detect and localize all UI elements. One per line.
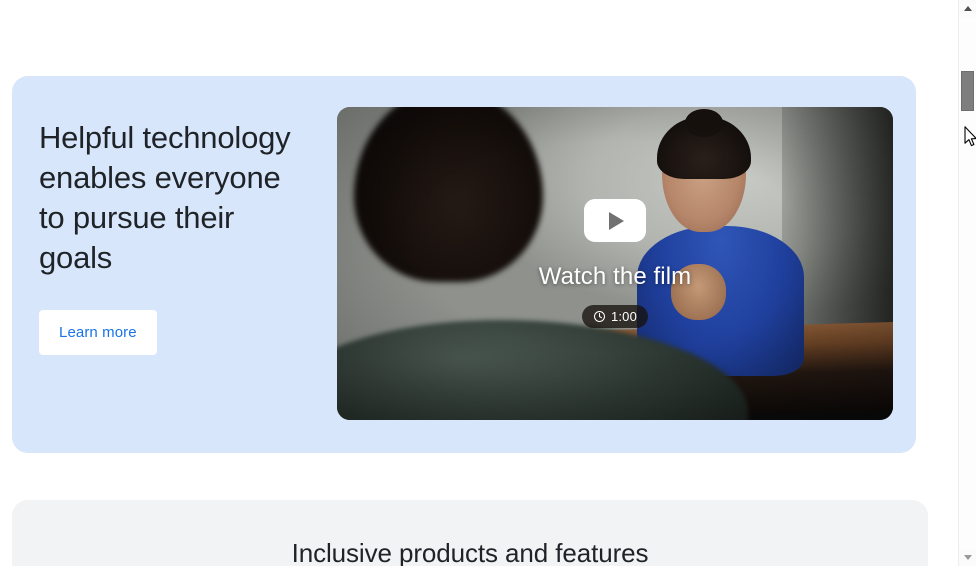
vertical-scrollbar[interactable] xyxy=(958,0,976,566)
scroll-down-arrow-icon[interactable] xyxy=(959,549,976,566)
clock-icon xyxy=(593,310,606,323)
play-triangle-icon xyxy=(609,212,624,230)
video-overlay: Watch the film 1:00 xyxy=(337,107,893,420)
scroll-up-arrow-icon[interactable] xyxy=(959,0,976,17)
scroll-up-arrow-glyph xyxy=(964,6,972,11)
video-duration-text: 1:00 xyxy=(611,309,637,324)
scrollbar-thumb[interactable] xyxy=(961,71,974,111)
play-icon[interactable] xyxy=(584,199,646,242)
page-content: Helpful technology enables everyone to p… xyxy=(0,0,958,566)
learn-more-button[interactable]: Learn more xyxy=(39,310,157,355)
section-heading: Inclusive products and features xyxy=(12,537,928,566)
hero-text-block: Helpful technology enables everyone to p… xyxy=(39,118,314,355)
page-title: Helpful technology enables everyone to p… xyxy=(39,118,314,278)
scroll-down-arrow-glyph xyxy=(964,555,972,560)
inclusive-products-section: Inclusive products and features xyxy=(12,500,928,566)
browser-viewport: Helpful technology enables everyone to p… xyxy=(0,0,976,566)
video-duration-badge: 1:00 xyxy=(582,305,648,328)
video-thumbnail[interactable]: Watch the film 1:00 xyxy=(337,107,893,420)
hero-card: Helpful technology enables everyone to p… xyxy=(12,76,916,453)
watch-the-film-label: Watch the film xyxy=(539,263,692,291)
